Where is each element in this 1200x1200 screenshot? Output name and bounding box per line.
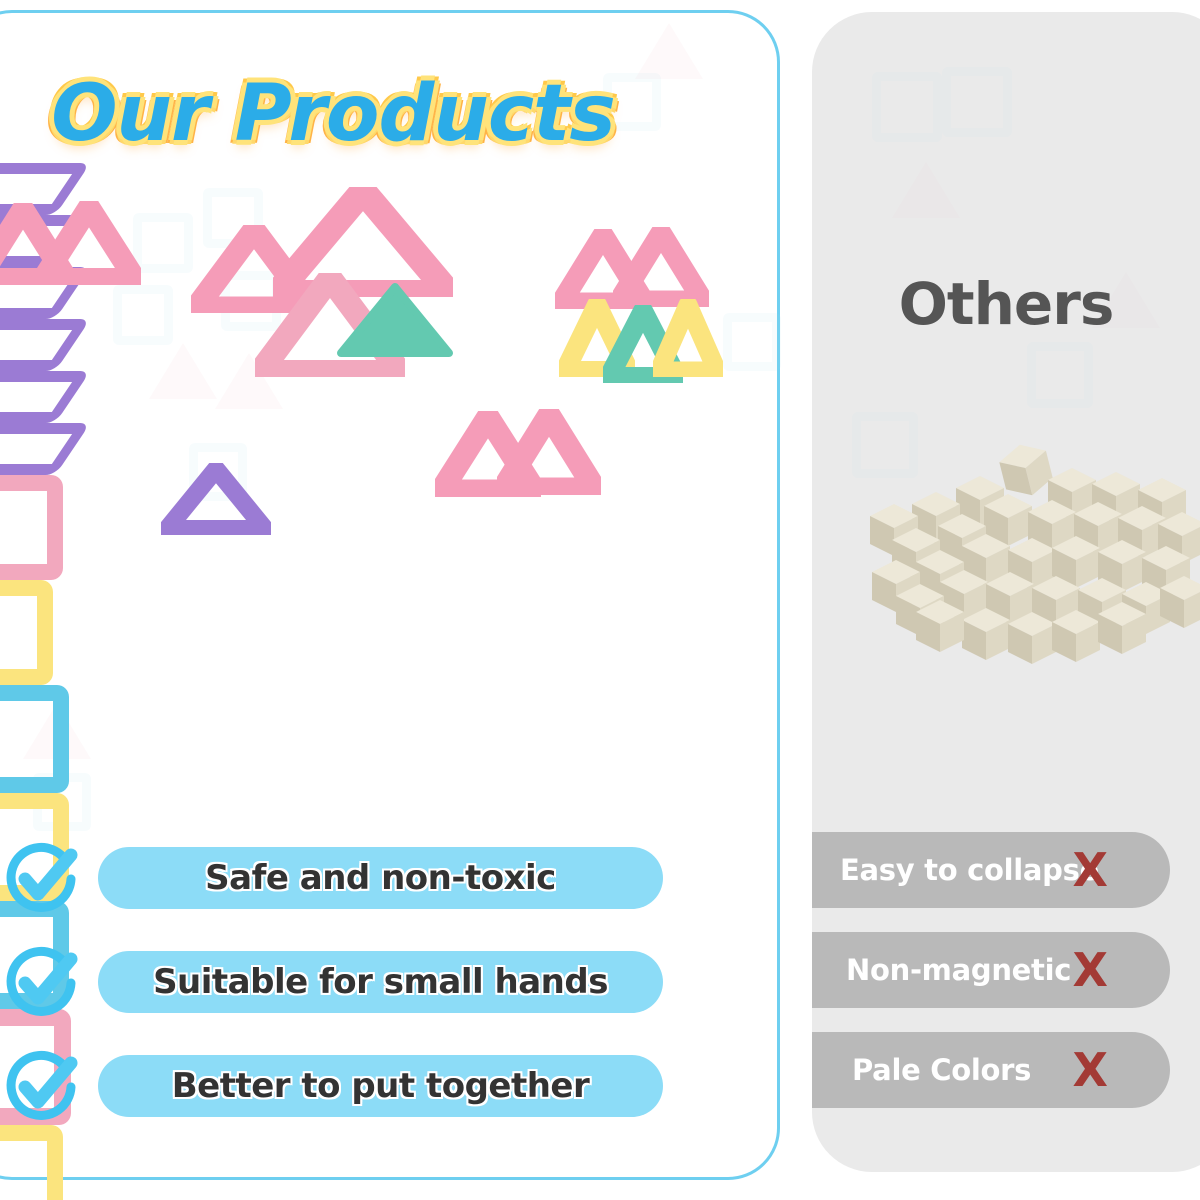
page-title: Our Products — [51, 69, 615, 159]
product-image-magnetic-tiles — [0, 163, 723, 803]
wooden-cube-pile-svg — [852, 442, 1200, 692]
tile-triangle-pink — [613, 227, 709, 307]
check-circle-icon — [1, 837, 81, 917]
check-circle-icon — [1, 941, 81, 1021]
feature-item[interactable]: Safe and non-toxic — [0, 833, 723, 925]
con-label: Pale Colors — [852, 1053, 1031, 1087]
page-title-wrap: Our Products — [0, 69, 703, 159]
tile-square-cyan — [0, 685, 69, 793]
con-label: Non-magnetic — [846, 953, 1071, 987]
feature-pill: Better to put together — [98, 1055, 663, 1117]
watermark-square — [872, 72, 942, 142]
base-tile — [0, 319, 91, 371]
con-label: Easy to collapse — [840, 853, 1099, 887]
tile-triangle-pink — [497, 409, 601, 495]
con-bar: Non-magnetic X — [812, 932, 1170, 1008]
infographic-canvas: Our Products — [0, 0, 1200, 1200]
watermark-triangle — [892, 162, 960, 218]
our-products-panel: Our Products — [0, 10, 780, 1180]
x-mark-icon: X — [1073, 843, 1108, 897]
x-mark-icon: X — [1073, 1043, 1108, 1097]
tile-triangle-pink — [37, 201, 141, 285]
tile-triangle-purple — [161, 463, 271, 535]
features-list: Safe and non-toxic Suitable for small ha… — [0, 833, 723, 1145]
base-tile — [0, 423, 91, 475]
tile-square-pink — [0, 475, 63, 580]
feature-label: Suitable for small hands — [153, 962, 608, 1002]
product-image-wooden-cubes — [852, 442, 1200, 692]
feature-item[interactable]: Suitable for small hands — [0, 937, 723, 1029]
tile-triangle-teal — [335, 281, 455, 359]
feature-pill: Suitable for small hands — [98, 951, 663, 1013]
check-circle-icon — [1, 1045, 81, 1125]
tile-square-yellow — [0, 580, 53, 685]
watermark-square — [942, 67, 1012, 137]
x-mark-icon: X — [1073, 943, 1108, 997]
feature-label: Safe and non-toxic — [205, 858, 556, 898]
con-item[interactable]: Non-magnetic X — [812, 932, 1200, 1032]
watermark-square — [1027, 342, 1093, 408]
cons-list: Easy to collapse X Non-magnetic X Pale C… — [812, 832, 1200, 1132]
feature-pill: Safe and non-toxic — [98, 847, 663, 909]
feature-item[interactable]: Better to put together — [0, 1041, 723, 1133]
base-tile — [0, 371, 91, 423]
tile-triangle-yellow — [653, 299, 723, 377]
con-item[interactable]: Easy to collapse X — [812, 832, 1200, 932]
con-bar: Easy to collapse X — [812, 832, 1170, 908]
others-title: Others — [812, 270, 1200, 338]
con-bar: Pale Colors X — [812, 1032, 1170, 1108]
watermark-square — [723, 313, 781, 371]
con-item[interactable]: Pale Colors X — [812, 1032, 1200, 1132]
feature-label: Better to put together — [172, 1066, 590, 1106]
